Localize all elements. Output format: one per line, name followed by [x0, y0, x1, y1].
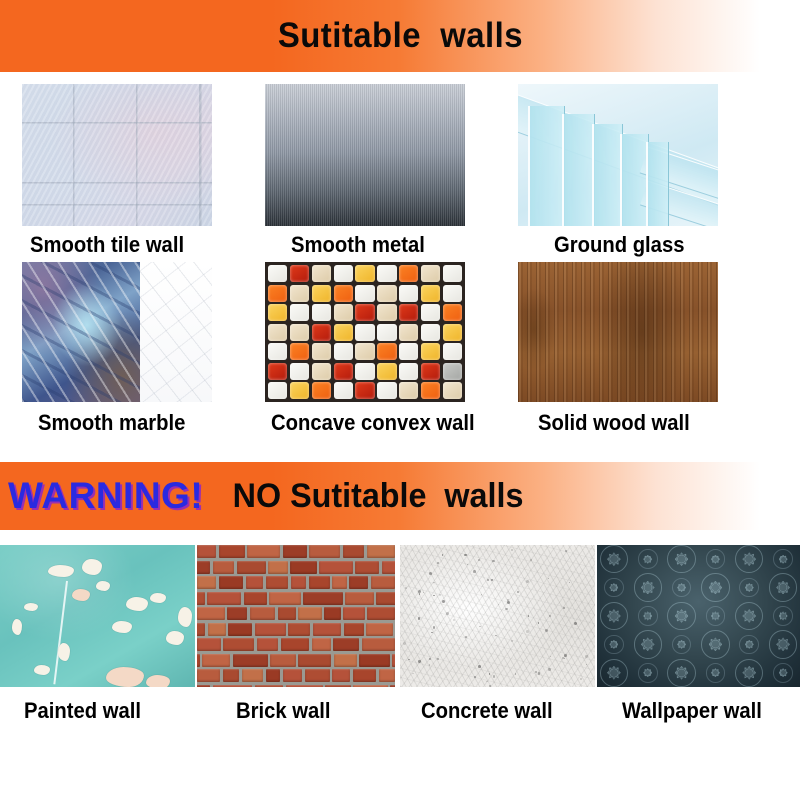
brick	[349, 576, 368, 589]
wallpaper-medallion	[706, 549, 726, 569]
brick-course	[197, 561, 395, 574]
glass-pane-2	[562, 114, 595, 226]
brick	[371, 576, 395, 589]
caption-smooth-marble: Smooth marble	[38, 410, 185, 436]
mosaic-tile	[443, 382, 462, 399]
mosaic-tile	[268, 265, 287, 282]
brick	[367, 607, 395, 620]
brick	[202, 654, 230, 667]
concrete-speck	[498, 604, 500, 606]
smooth-marble-image	[22, 262, 212, 402]
brick	[312, 638, 331, 651]
brick	[255, 623, 286, 636]
concrete-speck	[418, 617, 421, 620]
paint-flake	[24, 603, 38, 611]
brick	[376, 592, 395, 605]
brick	[219, 576, 243, 589]
mosaic-tile	[334, 285, 353, 302]
brick	[291, 576, 307, 589]
mosaic-tile	[334, 382, 353, 399]
paint-flake	[58, 643, 70, 661]
concrete-speck	[478, 665, 481, 668]
mosaic-tile	[290, 265, 309, 282]
brick	[213, 561, 235, 574]
wallpaper-medallion	[769, 630, 797, 658]
brick-wall-image	[197, 545, 395, 687]
mosaic-tile	[268, 324, 287, 341]
mosaic-tile	[334, 324, 353, 341]
wallpaper-medallion	[773, 549, 793, 569]
brick	[309, 576, 330, 589]
concrete-speck	[429, 658, 431, 660]
concave-convex-wall-image	[265, 262, 465, 402]
concrete-speck	[403, 642, 406, 645]
concrete-speck	[474, 676, 476, 678]
concrete-speck	[446, 612, 449, 615]
concrete-speck	[481, 594, 482, 595]
warning-label: WARNING!	[8, 475, 203, 517]
caption-brick-wall: Brick wall	[236, 698, 331, 724]
brick	[281, 638, 309, 651]
brick	[353, 685, 387, 688]
mosaic-tile	[399, 285, 418, 302]
glass-pane-5	[646, 142, 669, 226]
concrete-speck	[493, 675, 496, 678]
concrete-speck	[548, 668, 551, 671]
smooth-metal-image	[265, 84, 465, 226]
brick	[392, 654, 395, 667]
concrete-speck	[549, 615, 551, 617]
concrete-speck	[586, 664, 587, 665]
brick-course	[197, 654, 395, 667]
mosaic-tile	[290, 324, 309, 341]
wallpaper-medallion	[706, 606, 726, 626]
concrete-speck	[564, 658, 565, 659]
concrete-speck	[574, 622, 577, 625]
brick	[303, 592, 343, 605]
mosaic-tile	[377, 285, 396, 302]
mosaic-tile	[312, 343, 331, 360]
mosaic-tile	[377, 324, 396, 341]
wallpaper-medallion	[638, 606, 658, 626]
mosaic-tile	[399, 382, 418, 399]
brick	[244, 592, 267, 605]
brick	[278, 607, 296, 620]
brick	[270, 654, 296, 667]
mosaic-tile	[421, 363, 440, 380]
concrete-speck	[515, 673, 517, 675]
mosaic-tile	[312, 265, 331, 282]
mosaic-tile	[312, 363, 331, 380]
wallpaper-medallion	[667, 602, 695, 630]
mosaic-tile	[290, 304, 309, 321]
wallpaper-medallion	[600, 602, 628, 630]
brick	[355, 561, 379, 574]
wallpaper-medallion	[701, 630, 729, 658]
mosaic-tile	[355, 265, 374, 282]
mosaic-tile	[421, 382, 440, 399]
concrete-speck	[486, 681, 487, 682]
brick	[242, 669, 264, 682]
brick	[390, 685, 395, 688]
paint-flake	[82, 559, 102, 575]
brick	[197, 607, 225, 620]
concrete-speck	[464, 554, 466, 556]
brick	[197, 638, 221, 651]
brick	[343, 545, 365, 558]
concrete-speck	[535, 671, 537, 673]
mosaic-tile	[268, 304, 287, 321]
wallpaper-medallion	[735, 545, 763, 573]
brick	[367, 545, 395, 558]
mosaic-tile	[377, 304, 396, 321]
concrete-speck	[528, 615, 530, 617]
infographic-page: Sutitable walls Smooth tile wall Smooth …	[0, 0, 800, 800]
wallpaper-medallion	[638, 549, 658, 569]
wallpaper-medallion	[773, 606, 793, 626]
brick	[333, 638, 359, 651]
brick	[223, 638, 254, 651]
wallpaper-medallion	[604, 578, 624, 598]
mosaic-tile	[421, 285, 440, 302]
brick	[257, 638, 279, 651]
brick	[197, 545, 216, 558]
concrete-speck	[548, 578, 549, 579]
brick	[228, 623, 252, 636]
marble-blue-half	[22, 262, 140, 402]
caption-wallpaper-wall: Wallpaper wall	[622, 698, 762, 724]
mosaic-tile	[377, 363, 396, 380]
mosaic-tile	[355, 343, 374, 360]
concrete-speck	[489, 685, 491, 687]
brick-course	[197, 623, 395, 636]
brick	[266, 576, 289, 589]
paint-flake	[166, 631, 184, 645]
brick-course	[197, 669, 395, 682]
brick	[332, 576, 346, 589]
wallpaper-wall-image	[597, 545, 800, 687]
mosaic-tile	[312, 304, 331, 321]
wallpaper-medallion	[604, 635, 624, 655]
concrete-speck	[530, 559, 532, 561]
brick	[223, 669, 239, 682]
no-suitable-walls-title: NO Sutitable walls	[233, 477, 524, 516]
mosaic-tile	[399, 343, 418, 360]
caption-smooth-tile-wall: Smooth tile wall	[30, 232, 184, 258]
mosaic-tile	[268, 363, 287, 380]
concrete-speck	[429, 572, 432, 575]
brick	[283, 669, 303, 682]
mosaic-tile	[290, 382, 309, 399]
mosaic-tile	[377, 343, 396, 360]
brick	[366, 623, 392, 636]
paint-flake	[106, 667, 144, 687]
concrete-speck	[473, 570, 476, 573]
mosaic-tile	[312, 285, 331, 302]
brick	[233, 654, 268, 667]
brick	[353, 669, 376, 682]
mosaic-tile	[355, 304, 374, 321]
brick	[213, 685, 253, 688]
mosaic-tile	[377, 382, 396, 399]
wallpaper-medallion	[634, 573, 662, 601]
brick	[197, 669, 220, 682]
mosaic-tile	[443, 285, 462, 302]
brick	[266, 669, 281, 682]
concrete-speck	[431, 632, 433, 634]
mosaic-tile	[355, 382, 374, 399]
concrete-speck	[412, 673, 413, 674]
brick	[283, 545, 307, 558]
mosaic-tile	[334, 363, 353, 380]
mosaic-tile	[399, 324, 418, 341]
ground-glass-image	[518, 84, 718, 226]
paint-flake	[150, 593, 166, 603]
mosaic-tile	[334, 343, 353, 360]
concrete-speck	[465, 636, 467, 638]
wallpaper-medallion	[735, 659, 763, 687]
concrete-speck	[538, 622, 540, 624]
concrete-speck	[423, 592, 425, 594]
concrete-speck	[580, 678, 582, 680]
marble-white-half	[140, 262, 212, 402]
wallpaper-medallion	[701, 573, 729, 601]
brick	[324, 607, 340, 620]
mosaic-tile	[268, 343, 287, 360]
mosaic-tile	[268, 382, 287, 399]
concrete-speck	[526, 630, 529, 633]
brick	[255, 685, 284, 688]
mosaic-tile	[443, 343, 462, 360]
concrete-speck	[505, 608, 507, 610]
concrete-speck	[569, 582, 570, 583]
brick	[286, 685, 323, 688]
mosaic-tile	[443, 363, 462, 380]
wallpaper-medallion	[739, 578, 759, 598]
caption-ground-glass: Ground glass	[554, 232, 684, 258]
paint-flake	[12, 619, 22, 635]
brick	[319, 561, 352, 574]
brick	[197, 685, 210, 688]
brick-course	[197, 576, 395, 589]
caption-concrete-wall: Concrete wall	[421, 698, 553, 724]
brick	[362, 638, 395, 651]
concrete-speck	[565, 550, 567, 552]
caption-solid-wood-wall: Solid wood wall	[538, 410, 690, 436]
paint-flake	[48, 565, 74, 577]
concrete-speck	[517, 591, 519, 593]
concrete-speck	[442, 600, 445, 603]
brick	[197, 654, 200, 667]
brick	[345, 592, 374, 605]
brick	[197, 592, 205, 605]
concrete-speck	[429, 664, 430, 665]
brick-course	[197, 592, 395, 605]
mosaic-tile	[290, 285, 309, 302]
brick	[247, 545, 280, 558]
paint-flake	[178, 607, 192, 627]
concrete-speck	[491, 579, 493, 581]
concrete-speck	[418, 660, 420, 662]
concrete-speck	[437, 562, 439, 564]
brick-course	[197, 638, 395, 651]
concrete-speck	[489, 673, 490, 674]
brick	[313, 623, 342, 636]
mosaic-tile	[421, 265, 440, 282]
wallpaper-medallion	[672, 578, 692, 598]
concrete-speck	[439, 594, 441, 596]
concrete-speck	[437, 658, 439, 660]
concrete-speck	[507, 601, 510, 604]
mosaic-tile	[377, 265, 396, 282]
glass-pane-4	[620, 134, 649, 226]
brick	[197, 561, 210, 574]
warning-banner: WARNING! NO Sutitable walls	[0, 462, 800, 530]
wallpaper-medallion	[634, 630, 662, 658]
glass-pane-3	[592, 124, 623, 226]
caption-painted-wall: Painted wall	[24, 698, 141, 724]
concrete-speck	[550, 656, 551, 657]
brick	[343, 607, 365, 620]
concrete-speck	[433, 595, 435, 597]
brick	[332, 669, 350, 682]
paint-flake	[146, 675, 170, 687]
concrete-speck	[478, 559, 480, 561]
concrete-speck	[495, 635, 497, 637]
brick	[208, 623, 226, 636]
brick-course	[197, 607, 395, 620]
wallpaper-medallion	[773, 663, 793, 683]
concrete-speck	[526, 580, 529, 583]
suitable-walls-title: Sutitable walls	[277, 16, 522, 56]
wallpaper-medallion	[739, 635, 759, 655]
brick	[309, 545, 340, 558]
wallpaper-medallion	[735, 602, 763, 630]
mosaic-tile	[399, 363, 418, 380]
brick	[359, 654, 389, 667]
brick	[227, 607, 247, 620]
suitable-walls-banner: Sutitable walls	[0, 0, 800, 72]
brick	[290, 561, 316, 574]
concrete-speck	[479, 626, 481, 628]
mosaic-tile	[290, 343, 309, 360]
mosaic-tile	[290, 363, 309, 380]
wallpaper-medallion	[638, 663, 658, 683]
concrete-speck	[405, 587, 407, 589]
brick-course	[197, 685, 395, 688]
paint-flake	[72, 589, 90, 601]
concrete-speck	[511, 640, 513, 642]
brick	[237, 561, 266, 574]
mosaic-tile	[443, 304, 462, 321]
brick	[288, 623, 310, 636]
mosaic-tile	[421, 343, 440, 360]
mosaic-tile	[312, 382, 331, 399]
concrete-speck	[467, 564, 468, 565]
brick	[305, 669, 330, 682]
paint-crack	[53, 581, 68, 684]
brick	[382, 561, 395, 574]
concrete-speck	[563, 607, 565, 609]
concrete-speck	[511, 549, 513, 551]
paint-flake	[96, 581, 110, 591]
mosaic-tile	[355, 285, 374, 302]
concrete-speck	[453, 619, 455, 621]
wallpaper-medallion	[667, 659, 695, 687]
concrete-speck	[492, 560, 495, 563]
brick	[197, 623, 205, 636]
brick	[197, 576, 216, 589]
brick	[250, 607, 276, 620]
concrete-speck	[487, 579, 489, 581]
concrete-speck	[418, 590, 421, 593]
wallpaper-medallion	[672, 635, 692, 655]
brick	[298, 654, 331, 667]
concrete-speck	[538, 672, 541, 675]
brick	[269, 592, 300, 605]
brick	[246, 576, 264, 589]
brick	[219, 545, 245, 558]
mosaic-tile	[421, 324, 440, 341]
concrete-speck	[564, 654, 567, 657]
paint-flake	[34, 665, 50, 675]
wallpaper-medallion	[769, 573, 797, 601]
mosaic-tile	[312, 324, 331, 341]
caption-concave-convex-wall: Concave convex wall	[271, 410, 475, 436]
brick	[344, 623, 364, 636]
concrete-speck	[545, 629, 548, 632]
glass-pane-1	[528, 106, 565, 226]
mosaic-tile	[399, 304, 418, 321]
brick	[268, 561, 287, 574]
mosaic-tile	[421, 304, 440, 321]
smooth-tile-wall-image	[22, 84, 212, 226]
brick	[207, 592, 241, 605]
concrete-speck	[433, 626, 435, 628]
paint-flake	[112, 621, 132, 633]
concrete-wall-image	[400, 545, 595, 687]
concrete-speck	[442, 554, 443, 555]
painted-wall-image	[0, 545, 195, 687]
mosaic-tile	[268, 285, 287, 302]
mosaic-tile	[399, 265, 418, 282]
concrete-speck	[433, 582, 435, 584]
mosaic-tile	[334, 304, 353, 321]
brick-course	[197, 545, 395, 558]
wallpaper-medallion	[600, 545, 628, 573]
mosaic-tile	[355, 324, 374, 341]
wallpaper-medallion	[600, 659, 628, 687]
brick	[325, 685, 351, 688]
mosaic-tile	[443, 265, 462, 282]
paint-flake	[126, 597, 148, 611]
mosaic-tile	[443, 324, 462, 341]
concrete-speck	[419, 593, 420, 594]
solid-wood-wall-image	[518, 262, 718, 402]
brick	[334, 654, 357, 667]
mosaic-tile	[334, 265, 353, 282]
wallpaper-medallion	[667, 545, 695, 573]
concrete-speck	[408, 659, 409, 660]
concrete-speck	[585, 655, 588, 658]
brick	[379, 669, 395, 682]
mosaic-tile	[355, 363, 374, 380]
wallpaper-medallion	[706, 663, 726, 683]
brick	[298, 607, 322, 620]
caption-smooth-metal: Smooth metal	[291, 232, 425, 258]
